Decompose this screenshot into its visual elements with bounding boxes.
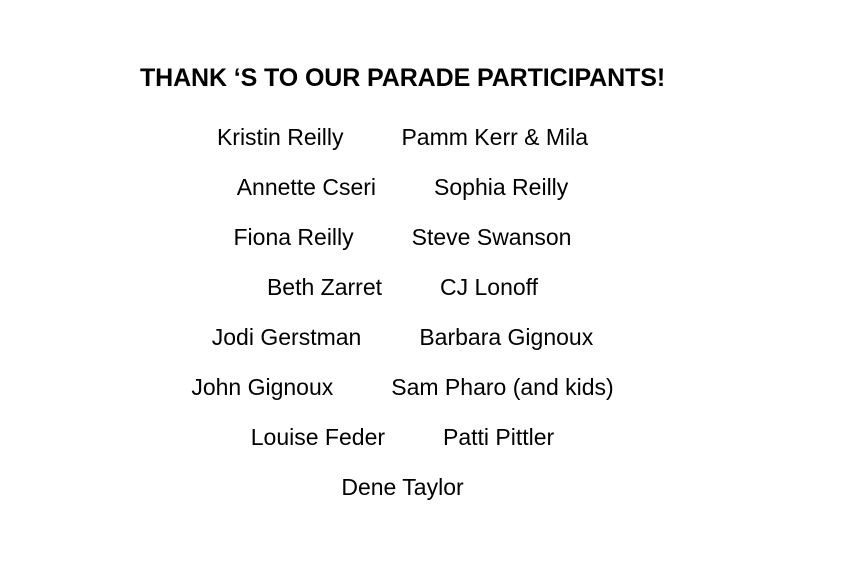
table-row: Beth Zarret CJ Lonoff [0,262,805,312]
participant-name-left: Annette Cseri [237,162,376,212]
table-row: Louise Feder Patti Pittler [0,412,805,462]
participant-name-right: Pamm Kerr & Mila [401,112,588,162]
participant-name-right: Patti Pittler [443,412,554,462]
participant-name-right: Sam Pharo (and kids) [391,362,613,412]
participant-name-left: Dene Taylor [341,462,463,512]
participant-name-left: Fiona Reilly [234,212,354,262]
poster-page: THANK ‘S TO OUR PARADE PARTICIPANTS! Kri… [0,0,857,571]
participants-list: Kristin Reilly Pamm Kerr & Mila Annette … [0,112,805,512]
table-row: Jodi Gerstman Barbara Gignoux [0,312,805,362]
participant-name-left: Kristin Reilly [217,112,344,162]
participant-name-right: CJ Lonoff [440,262,538,312]
table-row: Fiona Reilly Steve Swanson [0,212,805,262]
participant-name-left: John Gignoux [191,362,333,412]
participant-name-left: Beth Zarret [267,262,382,312]
table-row: Annette Cseri Sophia Reilly [0,162,805,212]
participant-name-right: Sophia Reilly [434,162,568,212]
table-row: Kristin Reilly Pamm Kerr & Mila [0,112,805,162]
participant-name-left: Louise Feder [251,412,385,462]
participant-name-left: Jodi Gerstman [212,312,362,362]
table-row: John Gignoux Sam Pharo (and kids) [0,362,805,412]
participant-name-right: Barbara Gignoux [419,312,593,362]
table-row: Dene Taylor [0,462,805,512]
page-title: THANK ‘S TO OUR PARADE PARTICIPANTS! [0,62,805,94]
participant-name-right: Steve Swanson [412,212,572,262]
